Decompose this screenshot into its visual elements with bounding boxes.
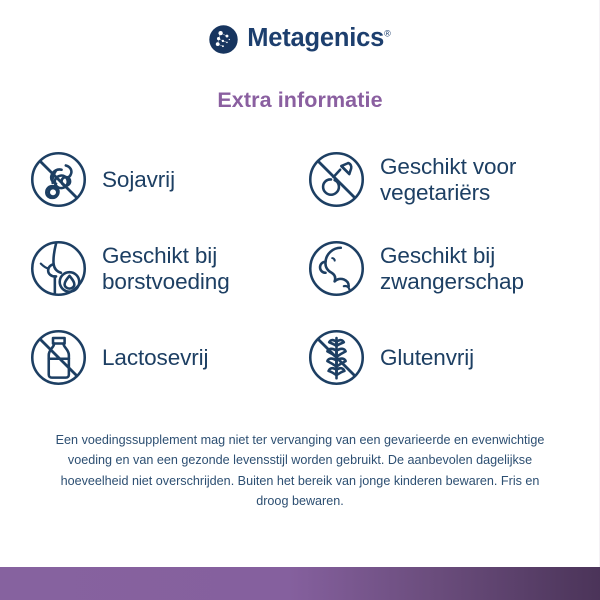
feature-label: Sojavrij — [102, 167, 175, 192]
feature-item-vegetarian: Geschikt voor vegetariërs — [306, 135, 576, 224]
product-info-card: Metagenics® Extra informatie Sojavrij — [0, 0, 600, 600]
page-title: Extra informatie — [0, 88, 600, 113]
lactose-free-icon — [28, 327, 89, 388]
feature-label: Geschikt bij zwangerschap — [380, 243, 576, 293]
feature-grid: Sojavrij Geschikt voor vegetariërs — [0, 135, 600, 402]
metagenics-molecule-circle-icon — [209, 25, 238, 54]
feature-item-lactose-free: Lactosevrij — [28, 313, 298, 402]
footer-gradient-bar — [0, 567, 600, 600]
feature-label: Glutenvrij — [380, 345, 474, 370]
feature-label: Lactosevrij — [102, 345, 208, 370]
pregnancy-fetus-icon — [306, 238, 367, 299]
disclaimer-text: Een voedingssupplement mag niet ter verv… — [0, 430, 600, 512]
feature-label: Geschikt voor vegetariërs — [380, 154, 576, 204]
brand-name-text: Metagenics — [247, 24, 384, 52]
feature-label: Geschikt bij borstvoeding — [102, 243, 298, 293]
registered-trademark-mark: ® — [384, 29, 391, 39]
feature-item-soy-free: Sojavrij — [28, 135, 298, 224]
vegetarian-icon — [306, 149, 367, 210]
breastfeeding-icon — [28, 238, 89, 299]
brand-name: Metagenics® — [247, 26, 391, 52]
gluten-free-icon — [306, 327, 367, 388]
brand-logo: Metagenics® — [0, 0, 600, 78]
feature-item-breastfeeding: Geschikt bij borstvoeding — [28, 224, 298, 313]
feature-item-gluten-free: Glutenvrij — [306, 313, 576, 402]
feature-item-pregnancy: Geschikt bij zwangerschap — [306, 224, 576, 313]
soy-free-icon — [28, 149, 89, 210]
